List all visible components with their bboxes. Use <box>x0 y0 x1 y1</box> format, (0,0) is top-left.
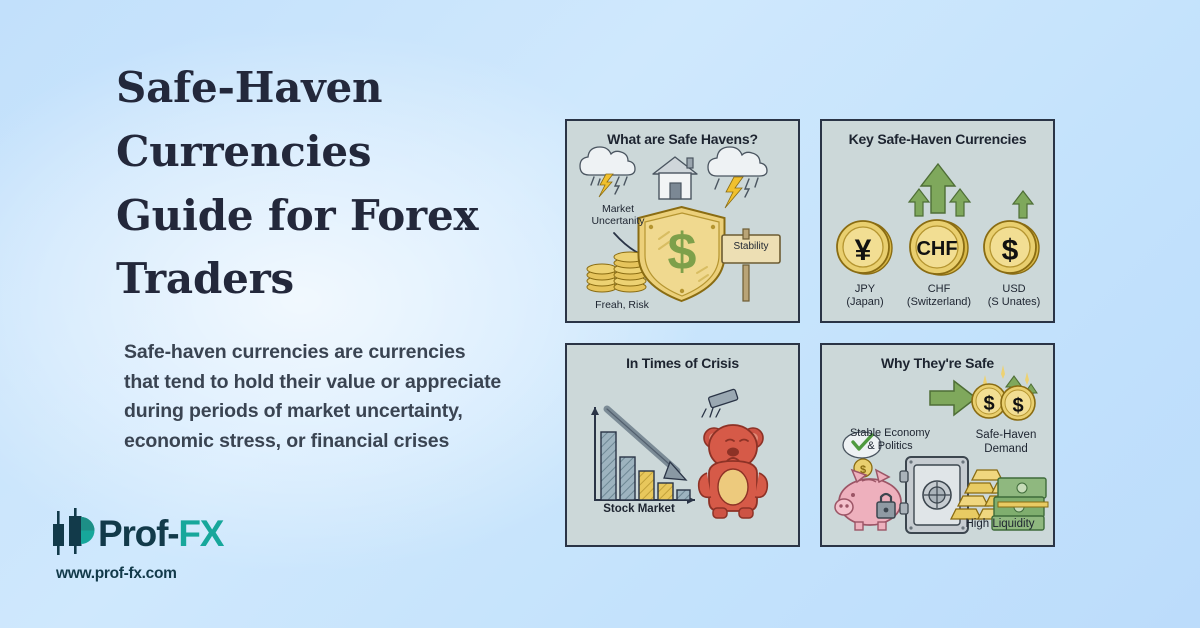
coin-dollar-icon: $ <box>1001 386 1035 420</box>
piggy-bank-icon <box>835 470 901 530</box>
title-line-1: Safe-Haven Currencies <box>116 56 536 184</box>
up-arrow-icon <box>950 189 970 216</box>
svg-text:$: $ <box>668 223 697 281</box>
website-url[interactable]: www.prof-fx.com <box>56 565 312 583</box>
card-2-label-jpy: JPY(Japan) <box>830 283 900 309</box>
card-3-caption-stock-market: Stock Market <box>589 503 689 517</box>
up-arrow-icon <box>909 189 929 216</box>
brand-logo[interactable]: Prof-FX www.prof-fx.com <box>52 508 312 583</box>
svg-text:CHF: CHF <box>916 238 957 260</box>
svg-text:$: $ <box>1002 234 1019 267</box>
card-1-caption-market: MarketUncertanity <box>581 203 655 228</box>
signpost-icon <box>722 229 780 301</box>
card-1-caption-risk: Freah, Risk <box>579 299 665 311</box>
infographic-grid: What are Safe Havens? <box>565 119 1075 547</box>
hero-subtitle: Safe-haven currencies are currencies tha… <box>124 338 502 457</box>
green-arrow-icon <box>930 381 976 415</box>
storm-cloud-icon <box>580 147 635 197</box>
gold-coin-icon: ¥ <box>837 221 892 274</box>
card-4-caption-stable-economy: Stable Economy& Politics <box>828 427 952 453</box>
card-1-caption-stability: Stability <box>722 241 780 253</box>
poster-canvas: Safe-Haven Currencies Guide for Forex Tr… <box>0 0 1200 628</box>
title-line-2: Guide for Forex <box>116 184 536 248</box>
svg-text:¥: ¥ <box>855 234 872 267</box>
hero-text-block: Safe-Haven Currencies Guide for Forex Tr… <box>116 56 536 311</box>
page-title: Safe-Haven Currencies Guide for Forex Tr… <box>116 56 536 311</box>
card-2-label-usd: USD(S Unates) <box>978 283 1050 309</box>
bear-icon <box>699 425 768 518</box>
coin-stack-icon <box>587 252 646 292</box>
card-why-theyre-safe[interactable]: Why They're Safe <box>820 343 1055 547</box>
bar-chart-icon <box>591 407 695 504</box>
brand-accent: FX <box>178 513 223 554</box>
svg-text:$: $ <box>1012 395 1023 417</box>
gold-coin-icon: CHF <box>910 220 968 275</box>
card-4-caption-safe-haven-demand: Safe-HavenDemand <box>960 429 1052 456</box>
up-arrow-icon <box>921 164 955 213</box>
card-2-label-chf: CHF(Switzerland) <box>898 283 980 309</box>
storm-cloud-icon <box>708 147 767 208</box>
title-line-3: Traders <box>116 247 536 311</box>
falling-sign-icon <box>702 389 738 417</box>
gold-coin-icon: $ <box>984 221 1039 274</box>
card-in-times-of-crisis[interactable]: In Times of Crisis <box>565 343 800 547</box>
svg-text:$: $ <box>983 393 994 415</box>
house-icon <box>653 157 697 199</box>
card-what-are-safe-havens[interactable]: What are Safe Havens? <box>565 119 800 323</box>
up-arrow-icon <box>1013 191 1033 218</box>
card-4-caption-high-liquidity: High Liquidity <box>950 518 1050 532</box>
brand-primary: Prof- <box>98 513 178 554</box>
brand-wordmark: Prof-FX <box>98 515 223 552</box>
down-arrow-icon <box>607 409 686 480</box>
card-key-safe-haven-currencies[interactable]: Key Safe-Haven Currencies <box>820 119 1055 323</box>
